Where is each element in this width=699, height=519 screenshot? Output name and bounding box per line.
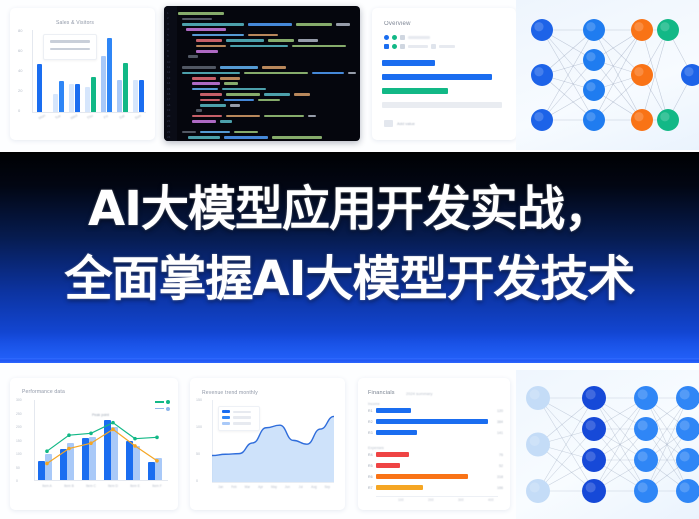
combo-chart-title: Performance data (22, 389, 65, 395)
code-token (182, 72, 240, 75)
report-bar (376, 452, 409, 457)
code-token (178, 12, 224, 15)
bar (107, 38, 112, 112)
report-row-value: 141 (497, 431, 503, 435)
kpi-footer[interactable]: Add value (384, 120, 415, 127)
combo-x-labels: Item AItem BItem CItem DItem EItem F (36, 484, 168, 488)
combo-y-tick: 50 (16, 466, 20, 470)
code-token (296, 23, 332, 26)
code-token (200, 99, 220, 102)
code-token (192, 82, 220, 85)
report-x-axis (376, 496, 498, 497)
code-token (234, 131, 258, 134)
code-token (248, 34, 278, 37)
line-number: 22 (167, 124, 170, 128)
chip-row-2 (384, 44, 455, 49)
area-chart-card: Revenue trend monthly 150100500 JanFebMa… (190, 378, 345, 510)
area-y-tick: 100 (196, 425, 202, 429)
line-number: 2 (167, 16, 169, 20)
bar (101, 56, 106, 112)
banner-top-edge (0, 152, 699, 154)
area-x-labels: JanFebMarAprMayJunJulAugSep (214, 485, 334, 489)
report-row-value: 166 (497, 486, 503, 490)
combo-line-group (36, 400, 168, 480)
code-token (226, 39, 264, 42)
kpi-bar (382, 74, 492, 80)
line-number: 10 (167, 60, 170, 64)
report-bar-card: Financials 2024 summary Income Expenses … (358, 378, 510, 510)
y-tick-1: 60 (18, 48, 22, 53)
bar (69, 84, 74, 112)
bar (139, 80, 144, 112)
code-token (192, 77, 216, 80)
area-legend-label-1 (233, 416, 251, 418)
area-x-label: Feb (227, 485, 240, 489)
report-row-label: R5 (368, 464, 373, 468)
line-number: 13 (167, 76, 170, 80)
report-row-value: 76 (499, 453, 503, 457)
chip-text-3 (439, 45, 455, 47)
code-token (230, 45, 288, 48)
report-bar (376, 408, 411, 413)
report-row-label: R6 (368, 475, 373, 479)
combo-x-label: Item D (102, 484, 124, 488)
combo-x-axis (34, 480, 168, 481)
x-label: Thu (82, 111, 98, 122)
code-token (336, 23, 350, 26)
chip-text-2 (408, 45, 428, 47)
combo-x-label: Item B (58, 484, 80, 488)
y-tick-4: 0 (18, 108, 20, 113)
neural-network-bottom (516, 370, 699, 519)
bar-chart-card: Sales & Visitors 80 60 40 20 0 MonTueWed… (10, 8, 155, 140)
code-token (312, 72, 344, 75)
bar (75, 84, 80, 112)
area-legend-item-2 (222, 422, 256, 425)
legend-line-blue (155, 408, 164, 410)
code-token (294, 93, 310, 96)
area-y-tick: 150 (196, 398, 202, 402)
code-token (292, 45, 346, 48)
code-token (186, 28, 226, 31)
report-row-label: R4 (368, 453, 373, 457)
legend-dot-blue (166, 407, 170, 411)
x-axis-labels: MonTueWedThuFriSatSun (34, 115, 146, 119)
code-token (264, 115, 304, 118)
line-number: 23 (167, 130, 170, 134)
code-token (264, 93, 290, 96)
combo-y-tick: 0 (16, 479, 18, 483)
bar (117, 80, 122, 112)
line-number: 17 (167, 97, 170, 101)
legend-line-2 (50, 48, 90, 51)
line-number: 8 (167, 49, 169, 53)
kpi-bar (382, 102, 502, 108)
line-number: 11 (167, 65, 170, 69)
code-token (188, 55, 198, 58)
code-token (196, 109, 202, 112)
code-token (182, 23, 244, 26)
poster-canvas: Sales & Visitors 80 60 40 20 0 MonTueWed… (0, 0, 699, 519)
chip-row-1 (384, 35, 455, 40)
report-x-tick: 300 (458, 498, 464, 502)
combo-legend-item-blue (155, 407, 170, 411)
report-row-label: R2 (368, 420, 373, 424)
x-label: Sat (114, 111, 130, 122)
code-token (272, 136, 322, 139)
line-number: 20 (167, 114, 170, 118)
area-chart-title: Revenue trend monthly (202, 390, 258, 396)
status-square-grey-2 (400, 44, 405, 49)
x-label: Wed (66, 111, 82, 122)
hero-banner: AI大模型应用开发实战， 全面掌握AI大模型开发技术 (0, 152, 699, 363)
code-token (224, 99, 254, 102)
line-number: 5 (167, 33, 169, 37)
bar (59, 81, 64, 112)
code-line (178, 140, 357, 141)
x-label: Tue (50, 111, 66, 122)
kpi-chip-rows (384, 35, 455, 53)
report-bar (376, 419, 488, 424)
report-bar (376, 485, 423, 490)
code-token (182, 18, 212, 21)
kpi-card-title: Overview (384, 21, 411, 27)
code-token (192, 120, 216, 123)
legend-line-1 (50, 40, 90, 43)
code-token (192, 88, 218, 91)
report-bar (376, 463, 400, 468)
combo-x-label: Item F (146, 484, 168, 488)
bar (91, 77, 96, 112)
report-row-label: R1 (368, 409, 373, 413)
code-area[interactable] (178, 11, 357, 141)
code-token (196, 50, 218, 53)
bar (37, 64, 42, 112)
combo-legend (155, 400, 170, 413)
area-legend-label-2 (233, 422, 251, 424)
line-number: 21 (167, 119, 170, 123)
banner-title-line-1: AI大模型应用开发实战， (0, 185, 699, 233)
line-number: 4 (167, 27, 169, 31)
combo-legend-item-green (155, 400, 170, 404)
report-row-value: 318 (497, 475, 503, 479)
combo-x-label: Item C (80, 484, 102, 488)
code-token (258, 99, 280, 102)
code-token (268, 39, 294, 42)
area-legend-label-0 (233, 411, 251, 413)
code-token (224, 82, 238, 85)
code-token (220, 66, 258, 69)
code-token (182, 66, 216, 69)
code-token (196, 45, 226, 48)
kpi-bar-card: Overview Add value (372, 8, 516, 140)
area-x-label: Sep (321, 485, 334, 489)
y-tick-0: 80 (18, 28, 22, 33)
line-number: 12 (167, 70, 170, 74)
neural-network-top (516, 0, 699, 150)
status-dot-green-2 (392, 44, 397, 49)
line-number: 1 (167, 11, 169, 15)
area-x-label: Aug (307, 485, 320, 489)
code-token (220, 77, 240, 80)
line-number: 3 (167, 22, 169, 26)
code-token (222, 88, 266, 91)
add-swatch-icon (384, 120, 393, 127)
report-subtitle: 2024 summary (406, 391, 432, 396)
line-number: 14 (167, 81, 170, 85)
code-token (244, 72, 308, 75)
code-token (200, 104, 226, 107)
combo-y-tick: 200 (16, 425, 22, 429)
combo-chart-card: Performance data 300250200150100500 Peak… (10, 378, 178, 510)
code-token (182, 131, 196, 134)
area-x-label: Jan (214, 485, 227, 489)
area-x-axis (212, 482, 334, 483)
combo-y-tick: 250 (16, 412, 22, 416)
code-token (230, 104, 240, 107)
status-square-blue (384, 44, 389, 49)
area-x-label: Jul (294, 485, 307, 489)
code-token (224, 136, 268, 139)
report-title: Financials (368, 390, 395, 396)
x-label: Sun (130, 111, 146, 122)
y-tick-3: 20 (18, 88, 22, 93)
code-token (348, 72, 356, 75)
combo-plot-area (36, 400, 168, 480)
code-token (192, 115, 222, 118)
status-square-pale (431, 44, 436, 49)
code-token (226, 115, 260, 118)
combo-y-axis (34, 400, 35, 480)
line-number: 9 (167, 54, 169, 58)
area-y-tick: 0 (196, 479, 198, 483)
code-token (262, 66, 286, 69)
bar (85, 87, 90, 112)
report-row-label: R7 (368, 486, 373, 490)
area-legend-item-0 (222, 410, 256, 413)
status-dot-blue (384, 35, 389, 40)
line-number: 18 (167, 103, 170, 107)
code-token (226, 93, 260, 96)
bar-chart-title: Sales & Visitors (56, 20, 94, 26)
y-axis-line (32, 30, 33, 112)
area-x-label: Mar (241, 485, 254, 489)
x-label: Mon (34, 111, 50, 122)
bar (123, 63, 128, 112)
banner-glow (0, 332, 699, 358)
line-number: 19 (167, 108, 170, 112)
bar (133, 80, 138, 112)
code-token (200, 93, 222, 96)
status-square-grey (400, 35, 405, 40)
code-token (248, 23, 292, 26)
combo-y-tick: 100 (16, 452, 22, 456)
code-token (298, 39, 318, 42)
code-token (220, 120, 232, 123)
code-token (200, 131, 230, 134)
chart-legend (43, 34, 97, 60)
x-label: Fri (98, 111, 114, 122)
status-dot-green (392, 35, 397, 40)
area-legend-swatch-2 (222, 422, 230, 425)
report-group-1-label: Income (368, 402, 380, 406)
report-row-label: R3 (368, 431, 373, 435)
combo-x-label: Item E (124, 484, 146, 488)
chip-text-1 (408, 36, 430, 38)
kpi-footer-label: Add value (397, 121, 415, 126)
report-bar (376, 430, 417, 435)
line-number-gutter (164, 6, 177, 141)
code-editor-card[interactable]: 1234567891011121314151617181920212223242… (164, 6, 360, 141)
combo-y-tick: 150 (16, 439, 22, 443)
bar (53, 94, 58, 112)
report-x-tick: 400 (488, 498, 494, 502)
report-row-value: 384 (497, 420, 503, 424)
area-x-label: May (267, 485, 280, 489)
kpi-bar (382, 60, 435, 66)
area-legend (218, 406, 260, 431)
area-legend-swatch-0 (222, 410, 230, 413)
neural-network-bottom-svg (516, 370, 699, 519)
area-legend-swatch-1 (222, 416, 230, 419)
legend-dot-green (166, 400, 170, 404)
legend-line-green (155, 401, 164, 403)
kpi-bar (382, 88, 448, 94)
combo-y-tick: 300 (16, 398, 22, 402)
area-y-tick: 50 (196, 452, 200, 456)
area-x-label: Jun (281, 485, 294, 489)
code-token (308, 115, 316, 118)
code-token (188, 136, 220, 139)
banner-accent-strip (0, 358, 699, 363)
report-bar (376, 474, 468, 479)
neural-network-top-svg (516, 0, 699, 150)
report-x-tick: 100 (398, 498, 404, 502)
line-number: 15 (167, 87, 170, 91)
code-token (196, 39, 222, 42)
area-x-label: Apr (254, 485, 267, 489)
combo-x-label: Item A (36, 484, 58, 488)
line-number: 16 (167, 92, 170, 96)
report-group-2-label: Expenses (368, 446, 384, 450)
report-row-value: 120 (497, 409, 503, 413)
banner-title-line-2: 全面掌握AI大模型开发技术 (0, 255, 699, 303)
line-number: 24 (167, 135, 170, 139)
report-x-tick: 200 (428, 498, 434, 502)
y-tick-2: 40 (18, 68, 22, 73)
line-number: 6 (167, 38, 169, 42)
report-row-value: 52 (499, 464, 503, 468)
area-legend-item-1 (222, 416, 256, 419)
line-number: 7 (167, 43, 169, 47)
code-token (192, 34, 244, 37)
